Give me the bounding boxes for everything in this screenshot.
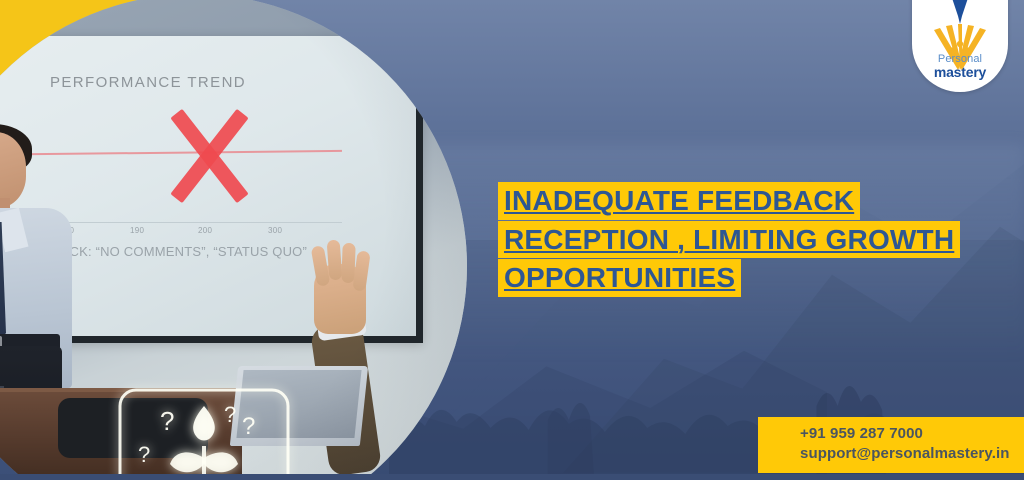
contact-bar: +91 959 287 7000 support@personalmastery… <box>758 417 1024 473</box>
headline-line-3: OPPORTUNITIES <box>498 259 741 297</box>
headline-line-1: INADEQUATE FEEDBACK <box>498 182 860 220</box>
photo-vignette <box>0 0 467 480</box>
logo-wordmark: Personal mastery <box>912 54 1008 80</box>
logo-text-mastery: mastery <box>912 65 1008 80</box>
brand-logo[interactable]: Personal mastery <box>912 0 1008 92</box>
hero-photo-circle: PERFORMANCE TREND 500 480 510 1.0 0 100 … <box>0 0 467 480</box>
headline-line-2: RECEPTION , LIMITING GROWTH <box>498 221 960 259</box>
headline: INADEQUATE FEEDBACK RECEPTION , LIMITING… <box>498 182 1003 298</box>
bottom-strip <box>0 474 1024 480</box>
contact-phone[interactable]: +91 959 287 7000 <box>800 424 1024 444</box>
banner-root: PERFORMANCE TREND 500 480 510 1.0 0 100 … <box>0 0 1024 480</box>
contact-email[interactable]: support@personalmastery.in <box>800 444 1024 464</box>
